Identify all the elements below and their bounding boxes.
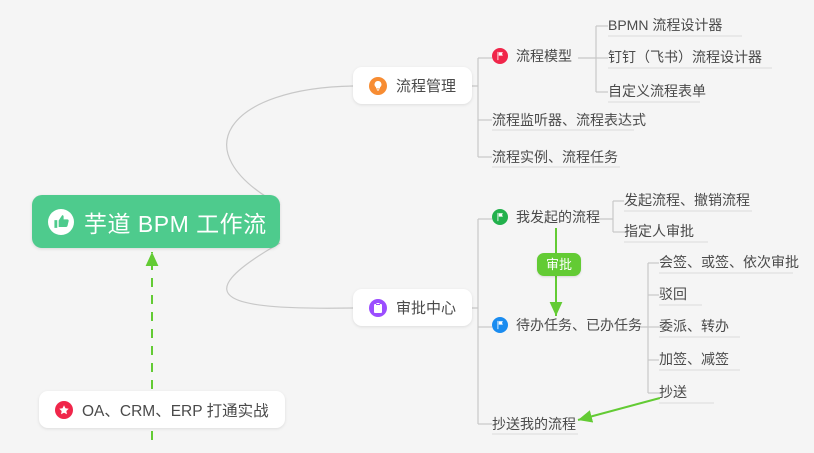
leaf-label: 自定义流程表单 [608,81,706,101]
leaf-label: 待办任务、已办任务 [516,315,642,335]
approve-badge: 审批 [537,253,581,276]
root-node[interactable]: 芋道 BPM 工作流 [32,195,280,248]
leaf-custom-form[interactable]: 自定义流程表单 [608,81,706,105]
leaf-label: 驳回 [659,284,687,304]
leaf-cc[interactable]: 抄送 [659,382,687,406]
leaf-todo-done-tasks[interactable]: 待办任务、已办任务 [492,315,642,339]
leaf-start-cancel[interactable]: 发起流程、撤销流程 [624,190,750,214]
branch-label: 审批中心 [396,297,456,318]
leaf-label: 发起流程、撤销流程 [624,190,750,210]
leaf-label: BPMN 流程设计器 [608,15,722,35]
leaf-add-remove-sign[interactable]: 加签、减签 [659,349,729,373]
star-icon [55,401,73,419]
thumbs-up-icon [48,209,74,235]
leaf-label: 会签、或签、依次审批 [659,252,799,272]
node-label: OA、CRM、ERP 打通实战 [82,399,269,421]
lightbulb-icon [369,77,387,95]
leaf-my-initiated[interactable]: 我发起的流程 [492,207,600,231]
branch-process-management[interactable]: 流程管理 [353,67,472,104]
branch-approval-center[interactable]: 审批中心 [353,289,472,326]
node-oa-crm-erp[interactable]: OA、CRM、ERP 打通实战 [39,391,285,428]
leaf-label: 钉钉（飞书）流程设计器 [608,47,762,67]
leaf-assignee-approve[interactable]: 指定人审批 [624,221,694,245]
leaf-label: 流程实例、流程任务 [492,147,618,167]
link-root-approval [227,243,353,308]
link-root-process [227,86,353,205]
root-label: 芋道 BPM 工作流 [84,205,267,239]
leaf-bpmn-designer[interactable]: BPMN 流程设计器 [608,15,722,39]
branch-label: 流程管理 [396,75,456,96]
clipboard-icon [369,299,387,317]
leaf-label: 抄送 [659,382,687,402]
leaf-label: 流程模型 [516,46,572,66]
leaf-label: 抄送我的流程 [492,414,576,434]
mindmap-canvas: 芋道 BPM 工作流 流程管理 审批中心 流程模型 流程监听器、流程表达式 [0,0,814,453]
leaf-label: 流程监听器、流程表达式 [492,110,646,130]
leaf-process-listener[interactable]: 流程监听器、流程表达式 [492,110,646,134]
arrow-cc-to-ccme [578,398,660,420]
flag-icon [492,209,508,225]
leaf-process-model[interactable]: 流程模型 [492,46,572,70]
leaf-cc-to-me[interactable]: 抄送我的流程 [492,414,576,438]
leaf-label: 我发起的流程 [516,207,600,227]
leaf-label: 委派、转办 [659,316,729,336]
leaf-label: 指定人审批 [624,221,694,241]
leaf-dingtalk-designer[interactable]: 钉钉（飞书）流程设计器 [608,47,762,71]
leaf-label: 加签、减签 [659,349,729,369]
leaf-countersign[interactable]: 会签、或签、依次审批 [659,252,799,276]
flag-icon [492,48,508,64]
leaf-process-instance[interactable]: 流程实例、流程任务 [492,147,618,171]
leaf-delegate-transfer[interactable]: 委派、转办 [659,316,729,340]
leaf-reject[interactable]: 驳回 [659,284,687,308]
approve-badge-label: 审批 [546,257,572,272]
flag-icon [492,317,508,333]
